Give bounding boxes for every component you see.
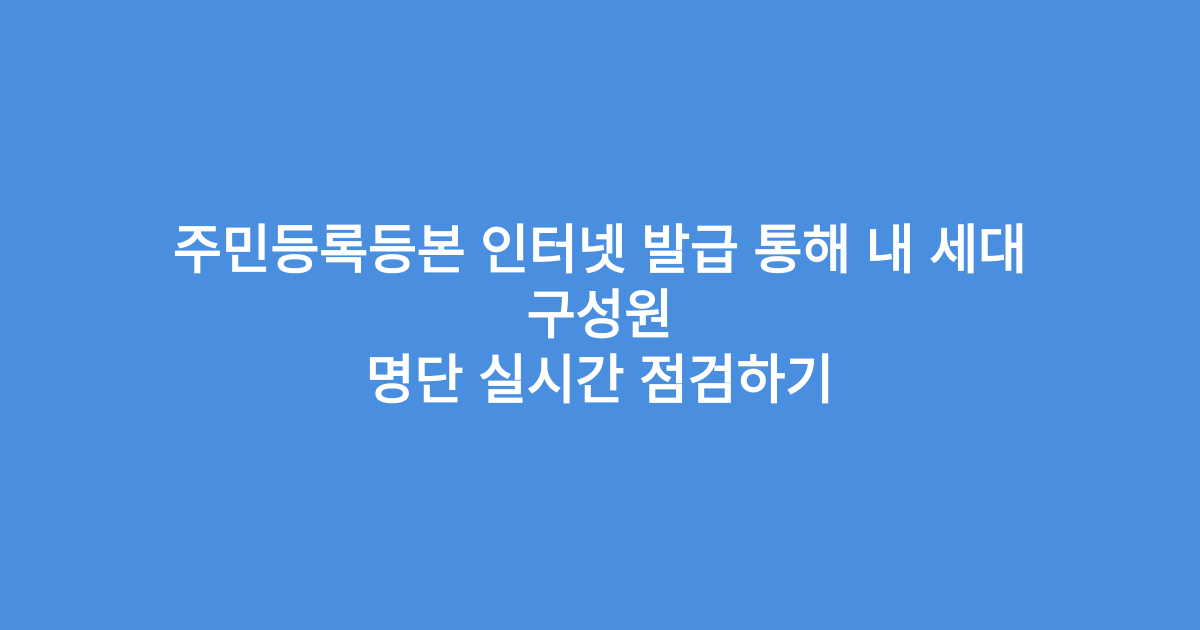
page-title: 주민등록등본 인터넷 발급 통해 내 세대 구성원 명단 실시간 점검하기 xyxy=(100,218,1100,413)
social-share-card: 주민등록등본 인터넷 발급 통해 내 세대 구성원 명단 실시간 점검하기 xyxy=(0,0,1200,630)
title-block: 주민등록등본 인터넷 발급 통해 내 세대 구성원 명단 실시간 점검하기 xyxy=(80,218,1120,413)
